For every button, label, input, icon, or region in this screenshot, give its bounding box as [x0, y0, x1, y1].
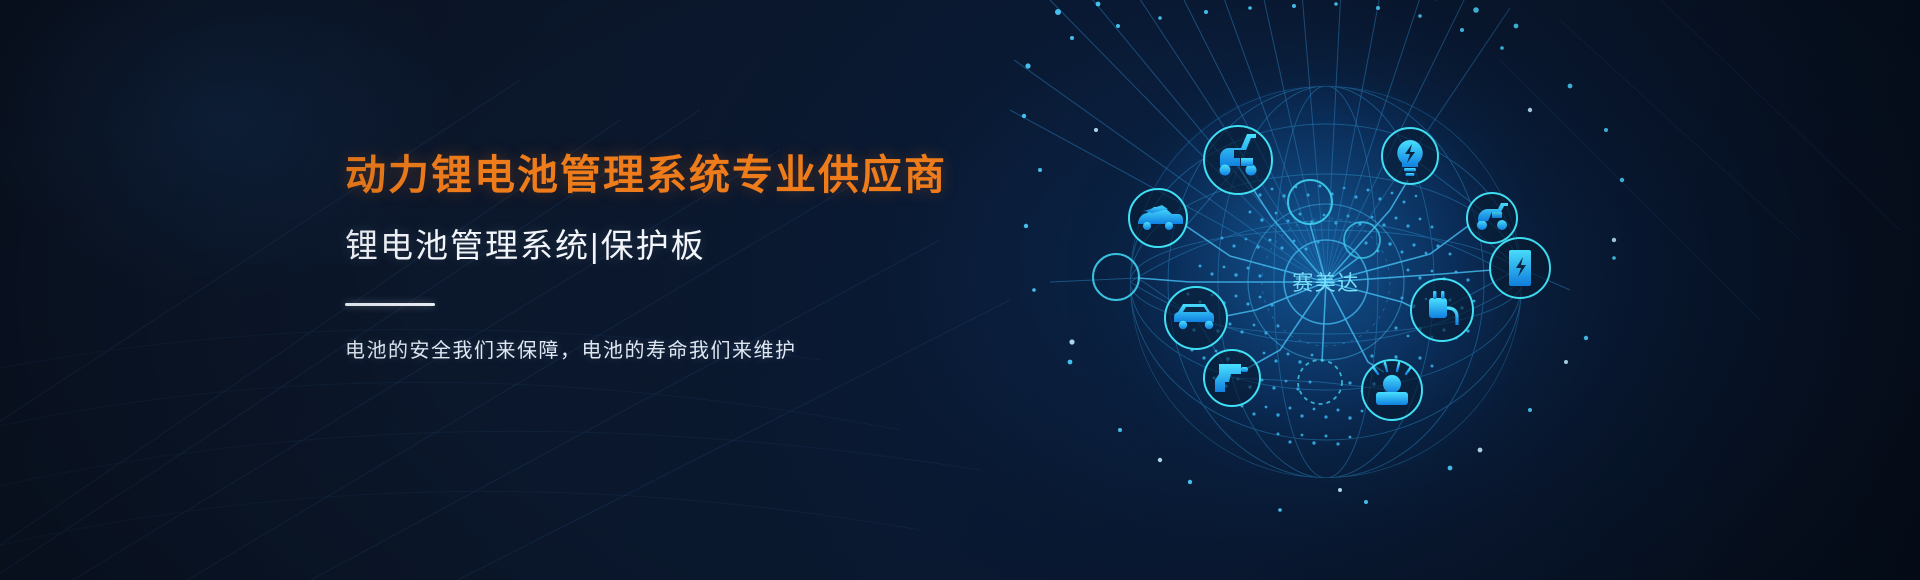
- phone-battery-icon: [1490, 238, 1550, 298]
- network-globe-graphic: 赛美达: [1010, 0, 1650, 580]
- scooter-icon: [1204, 126, 1272, 194]
- banner-tagline: 电池的安全我们来保障，电池的寿命我们来维护: [345, 334, 1065, 363]
- hub-label: 赛美达: [1292, 272, 1360, 295]
- desk-lamp-icon: [1362, 360, 1422, 420]
- sports-car-icon: [1129, 189, 1187, 247]
- divider-rule: [345, 303, 435, 306]
- power-drill-icon: [1204, 350, 1260, 406]
- car-icon: [1165, 287, 1227, 349]
- motorcycle-icon: [1467, 193, 1517, 243]
- banner-subtitle: 锂电池管理系统|保护板: [345, 225, 1065, 266]
- banner-title: 动力锂电池管理系统专业供应商: [345, 150, 1065, 201]
- banner-copy: 动力锂电池管理系统专业供应商 锂电池管理系统|保护板 电池的安全我们来保障，电池…: [345, 150, 1065, 363]
- lightbulb-icon: [1382, 128, 1438, 184]
- power-plug-icon: [1411, 279, 1473, 341]
- hero-banner: 赛美达 动力锂电池管理系统专业供应商 锂电池管理系统|保护板 电池的安全我们来保…: [0, 0, 1920, 580]
